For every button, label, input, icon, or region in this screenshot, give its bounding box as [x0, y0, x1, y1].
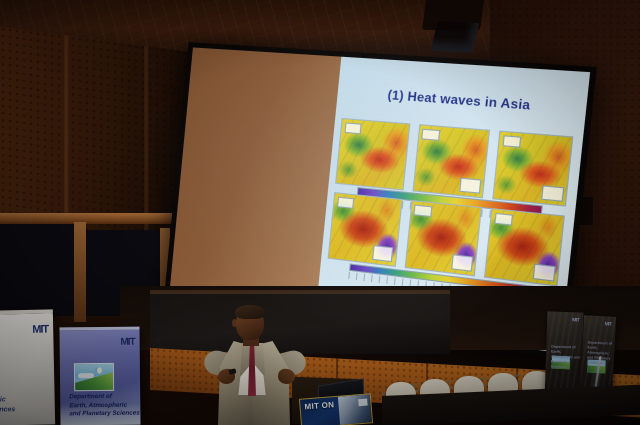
right-banner-2: MIT Department of Earth, Atmospheric and… [580, 315, 616, 397]
right-banner-1-text: Department of Earth, Atmospheric and Pla… [551, 345, 583, 371]
window-mullion [74, 222, 86, 322]
mit-logo-icon: MIT [604, 321, 611, 327]
map-panel [484, 208, 565, 286]
map-panel [328, 193, 402, 267]
slide-panel-grid [325, 118, 575, 313]
right-banner-2-text: Department of Earth, Atmospheric and Pla… [586, 340, 614, 366]
white-mit-banner: MIT of pheric Sciences [0, 309, 55, 425]
projector-icon [431, 21, 479, 53]
map-panel [492, 130, 574, 207]
panel-label [344, 122, 362, 134]
map-panel [404, 200, 482, 276]
panel-legend-box [451, 254, 473, 271]
panel-label [502, 135, 522, 147]
moon-icon [95, 367, 102, 374]
banner-logo-icon [358, 399, 368, 407]
panel-legend-box [459, 177, 481, 194]
mit-logo-icon: MIT [572, 317, 579, 323]
speaker-person [196, 305, 314, 425]
panel-legend-box [533, 264, 556, 281]
white-banner-line-3: Sciences [0, 405, 15, 416]
white-banner-text-block: of pheric Sciences [0, 385, 15, 416]
panel-legend-box [541, 185, 564, 202]
eaps-mit-banner: MIT Department of Earth, Atmospheric and… [59, 327, 140, 425]
map-panel [412, 124, 490, 199]
panel-label [421, 129, 440, 141]
panel-label [414, 205, 433, 217]
panel-label [337, 197, 355, 209]
panel-label [494, 213, 513, 226]
window-pane [0, 224, 78, 316]
map-panel [335, 118, 410, 191]
speaker-hair [235, 305, 265, 319]
eaps-banner-line-3: and Planetary Sciences [69, 410, 139, 419]
eaps-logo-icon [74, 363, 114, 391]
mit-logo-icon: MIT [32, 324, 48, 336]
cloud-icon [78, 373, 94, 378]
panel-legend-box [372, 245, 393, 262]
eaps-banner-text-block: Department of Earth, Atmospheric and Pla… [69, 393, 140, 420]
mit-logo-icon: MIT [120, 337, 134, 348]
lecture-hall-scene: (1) Heat waves in Asia [0, 0, 640, 425]
slide-title: (1) Heat waves in Asia [337, 86, 587, 117]
